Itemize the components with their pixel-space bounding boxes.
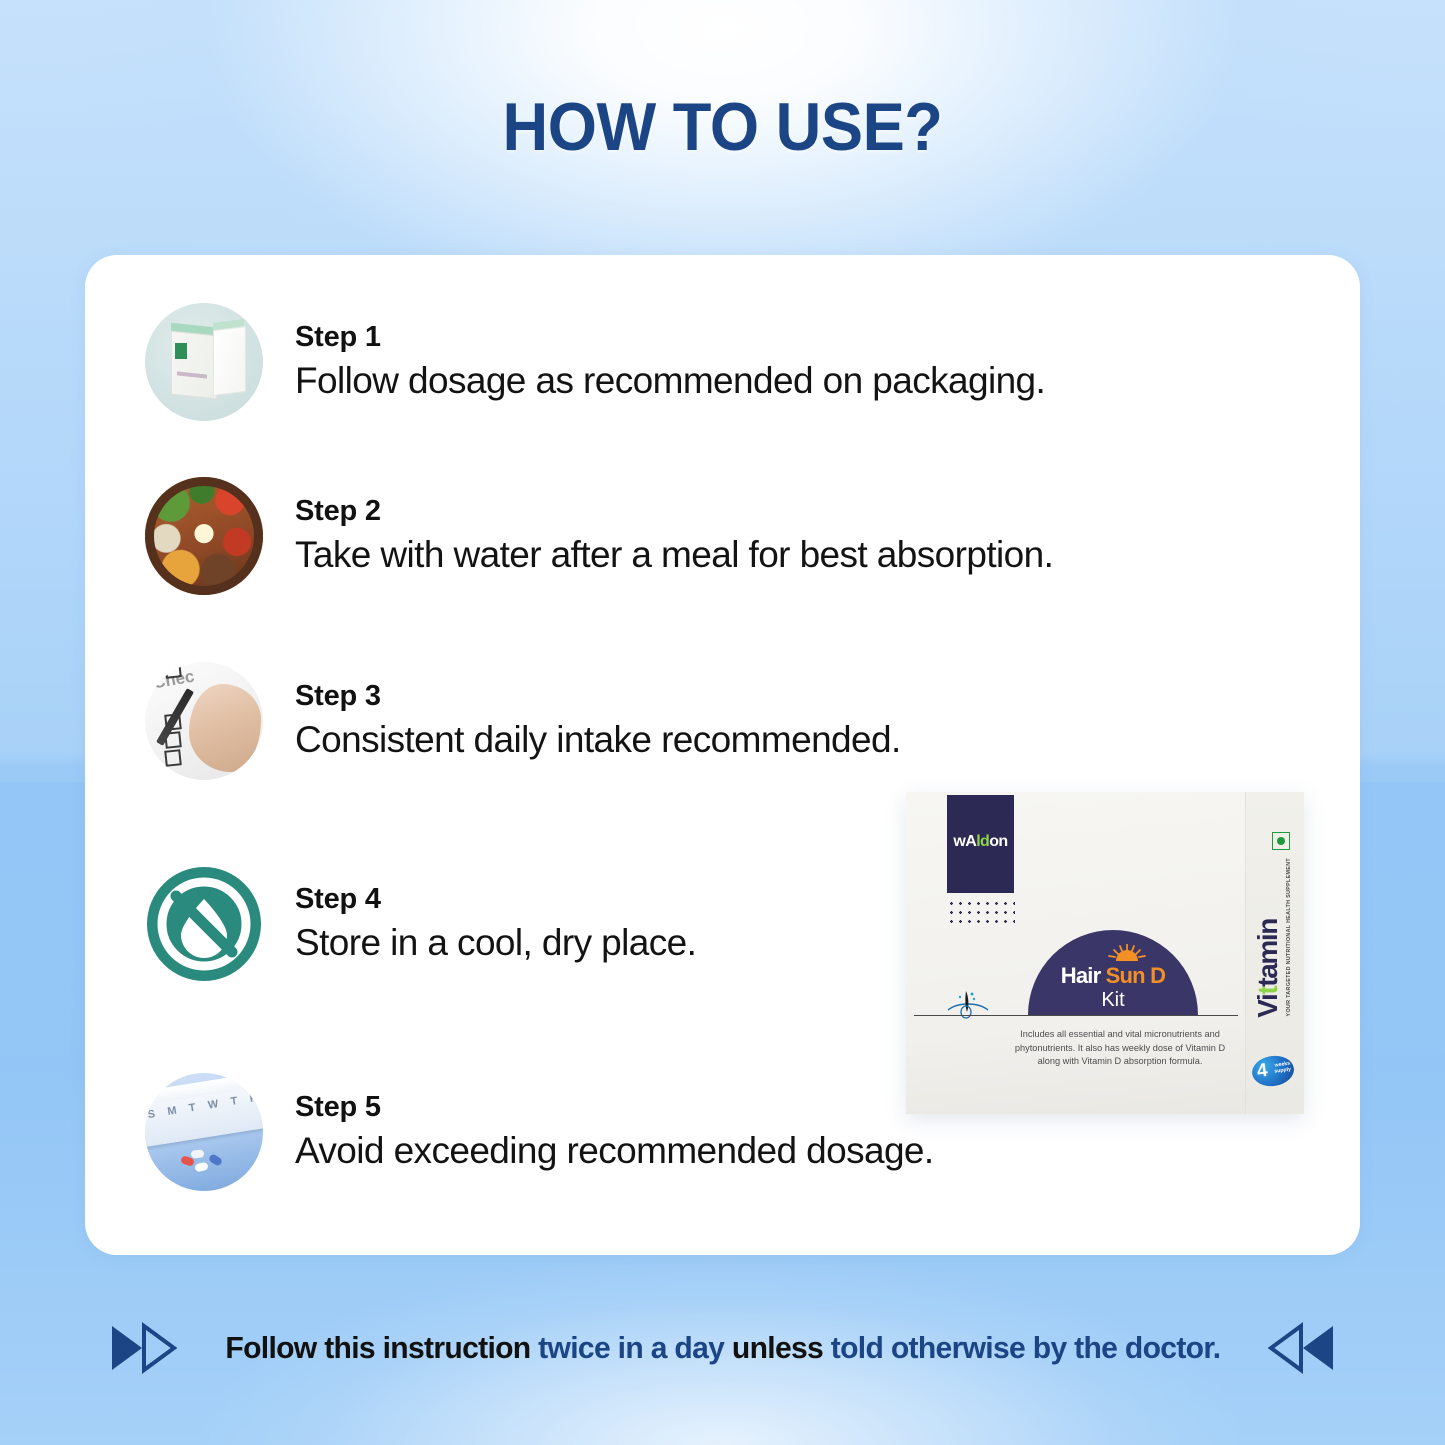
day-letter: S (147, 1108, 156, 1121)
brand-highlight: ld (976, 833, 989, 850)
hair-follicle-icon (946, 988, 990, 1022)
brand-name: wAldon (947, 833, 1014, 851)
step-text-group: Step 1 Follow dosage as recommended on p… (295, 322, 1045, 401)
step-description: Follow dosage as recommended on packagin… (295, 360, 1045, 401)
side-label-vi: Vi (1252, 995, 1283, 1018)
day-letter: W (207, 1098, 219, 1111)
product-title-hair: Hair (1061, 963, 1101, 988)
step-description: Store in a cool, dry place. (295, 922, 696, 963)
box-green-tab (175, 343, 187, 359)
product-front-face: wAldon Hair Sun D Kit (906, 792, 1246, 1114)
day-letter: F (249, 1092, 258, 1105)
footer-banner: Follow this instruction twice in a day u… (0, 1320, 1445, 1376)
hand-shape (189, 684, 261, 772)
footer-text: Follow this instruction twice in a day u… (225, 1330, 1220, 1366)
step-label: Step 4 (295, 884, 696, 916)
footer-part-2-highlight: twice in a day (538, 1330, 724, 1365)
step-label: Step 5 (295, 1092, 934, 1124)
day-letter: T (230, 1095, 239, 1108)
double-chevron-left-icon (1261, 1320, 1337, 1376)
badge-caption: weekssupply (1273, 1062, 1291, 1076)
double-chevron-right-icon (108, 1320, 184, 1376)
step-label: Step 1 (295, 322, 1045, 354)
list-item[interactable]: S M T W T F S Step 5 Avoid exceeding rec… (145, 1073, 934, 1191)
brand-prefix: wA (953, 833, 976, 850)
footer-part-4-highlight: told otherwise by the doctor. (830, 1330, 1220, 1365)
list-item[interactable]: Step 1 Follow dosage as recommended on p… (145, 303, 1045, 421)
vegetarian-mark-icon (1272, 832, 1290, 850)
brand-block: wAldon (947, 795, 1014, 893)
product-side-label: Vittamin (1252, 919, 1284, 1018)
product-side-tagline: YOUR TARGETED NUTRITIONAL HEALTH SUPPLEM… (1286, 858, 1292, 1016)
badge-line-2: supply (1274, 1066, 1291, 1074)
box-side-face (213, 326, 246, 396)
brand-suffix: on (989, 833, 1007, 850)
step-description: Take with water after a meal for best ab… (295, 534, 1053, 575)
footer-part-3: unless (724, 1330, 831, 1365)
weekly-pill-organizer-photo-icon: S M T W T F S (145, 1073, 263, 1191)
step-description: Consistent daily intake recommended. (295, 719, 901, 760)
step-label: Step 2 (295, 496, 1053, 528)
pill-shape (194, 1162, 209, 1173)
side-label-t: t (1252, 987, 1283, 995)
weeks-supply-badge: 4 weekssupply (1250, 1053, 1296, 1089)
badge-number: 4 (1256, 1061, 1269, 1081)
step-text-group: Step 5 Avoid exceeding recommended dosag… (295, 1092, 934, 1171)
product-box-photo-icon (145, 303, 263, 421)
pill-shape (191, 1149, 205, 1158)
day-letter: M (167, 1105, 178, 1118)
product-side-panel: Vittamin YOUR TARGETED NUTRITIONAL HEALT… (1245, 792, 1304, 1114)
product-title: Hair Sun D (1028, 963, 1198, 989)
step-text-group: Step 4 Store in a cool, dry place. (295, 884, 696, 963)
product-dome: Hair Sun D Kit (1028, 930, 1198, 1015)
checklist-hand-photo-icon: Chec (145, 662, 263, 780)
side-label-tamin: tamin (1252, 919, 1283, 987)
divider-line (914, 1015, 1238, 1016)
sun-rays-icon (1106, 944, 1148, 962)
box-front-face (171, 331, 217, 400)
pill-shape (208, 1153, 223, 1167)
meal-bowl-photo-icon (145, 477, 263, 595)
day-letter: T (188, 1102, 197, 1115)
bowl-rim (145, 477, 263, 595)
checkbox-glyph (164, 749, 182, 767)
list-item[interactable]: Chec Step 3 Consistent daily intake reco… (145, 662, 901, 780)
page-title: HOW TO USE? (51, 88, 1395, 166)
dot-pattern (947, 899, 1015, 925)
step-text-group: Step 2 Take with water after a meal for … (295, 496, 1053, 575)
list-item[interactable]: Step 4 Store in a cool, dry place. (145, 865, 696, 983)
no-moisture-glyph (145, 865, 263, 983)
no-moisture-icon (145, 865, 263, 983)
step-label: Step 3 (295, 681, 901, 713)
product-description: Includes all essential and vital micronu… (1006, 1028, 1234, 1069)
step-text-group: Step 3 Consistent daily intake recommend… (295, 681, 901, 760)
checkbox-glyph (164, 662, 182, 679)
product-title-kit: Kit (1028, 989, 1198, 1012)
footer-part-1: Follow this instruction (225, 1330, 538, 1365)
list-item[interactable]: Step 2 Take with water after a meal for … (145, 477, 1053, 595)
step-description: Avoid exceeding recommended dosage. (295, 1130, 934, 1171)
product-box-image: wAldon Hair Sun D Kit (906, 792, 1304, 1114)
product-title-sun: Sun D (1106, 963, 1166, 988)
